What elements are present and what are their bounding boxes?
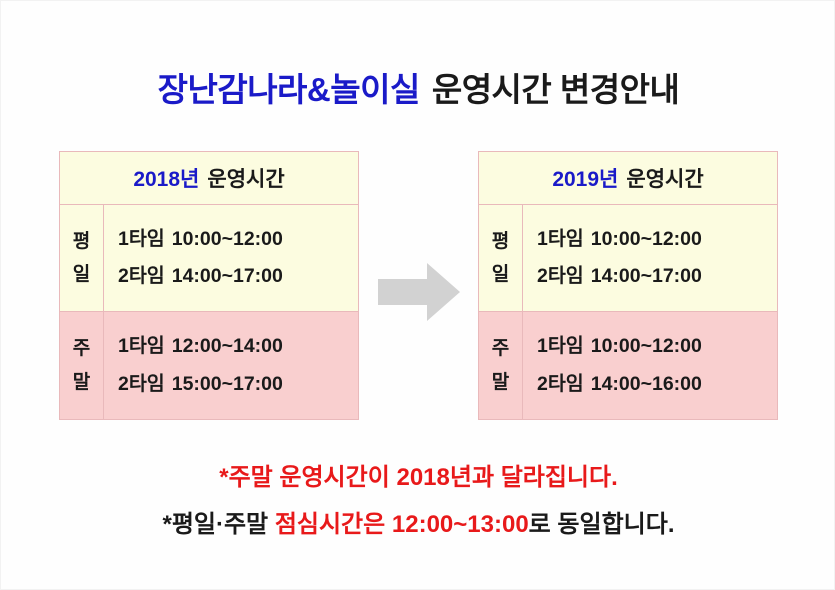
slot-time: 15:00~17:00 [172,373,283,395]
slot-label: 2타임 [118,373,165,395]
row-label-char: 평 [492,225,509,258]
notice-text-suffix: 로 동일합니다. [529,511,675,538]
slot-label: 1타임 [537,335,584,357]
row-label-weekday: 평 일 [479,205,523,311]
page-title-rest: 운영시간 변경안내 [432,71,680,108]
list-item: 1타임10:00~12:00 [537,221,777,259]
slot-time: 14:00~17:00 [172,265,283,287]
schedule-table-2019: 2019년운영시간 평 일 1타임10:00~12:00 2타임14:00~17… [478,151,778,420]
list-item: 2타임14:00~17:00 [118,258,358,296]
row-values-weekday: 1타임10:00~12:00 2타임14:00~17:00 [523,205,777,311]
table-header-year: 2019년 [552,163,618,193]
row-label-char: 말 [73,366,90,399]
row-label-char: 주 [73,332,90,365]
row-values-weekday: 1타임10:00~12:00 2타임14:00~17:00 [104,205,358,311]
row-label-char: 일 [492,258,509,291]
slot-label: 2타임 [537,373,584,395]
table-header-year: 2018년 [133,163,199,193]
slot-label: 2타임 [537,265,584,287]
list-item: 1타임10:00~12:00 [118,221,358,259]
slot-time: 10:00~12:00 [591,335,702,357]
list-item: 1타임12:00~14:00 [118,328,358,366]
table-header-2018: 2018년운영시간 [60,152,358,205]
notice-lunch-time: *평일·주말 점심시간은 12:00~13:00로 동일합니다. [1,504,835,539]
schedule-table-2018: 2018년운영시간 평 일 1타임10:00~12:00 2타임14:00~17… [59,151,359,420]
row-label-char: 평 [73,225,90,258]
arrow-right-icon [378,263,460,321]
row-label-char: 주 [492,332,509,365]
slot-time: 12:00~14:00 [172,335,283,357]
notice-page: 장난감나라&놀이실운영시간 변경안내 2018년운영시간 평 일 1타임10:0… [0,0,835,590]
row-label-weekend: 주 말 [60,312,104,419]
row-values-weekend: 1타임12:00~14:00 2타임15:00~17:00 [104,312,358,419]
list-item: 2타임14:00~17:00 [537,258,777,296]
notice-text-emphasis: 점심시간은 12:00~13:00 [275,511,529,538]
page-title: 장난감나라&놀이실운영시간 변경안내 [1,63,835,111]
table-header-label: 운영시간 [207,163,284,193]
row-label-weekday: 평 일 [60,205,104,311]
slot-label: 1타임 [118,228,165,250]
slot-time: 14:00~17:00 [591,265,702,287]
page-title-highlight: 장난감나라&놀이실 [158,71,420,108]
row-values-weekend: 1타임10:00~12:00 2타임14:00~16:00 [523,312,777,419]
row-label-weekend: 주 말 [479,312,523,419]
table-row: 주 말 1타임10:00~12:00 2타임14:00~16:00 [479,312,777,419]
slot-time: 14:00~16:00 [591,373,702,395]
table-row: 평 일 1타임10:00~12:00 2타임14:00~17:00 [60,205,358,312]
list-item: 1타임10:00~12:00 [537,328,777,366]
notice-text: *주말 운영시간이 2018년과 달라집니다. [219,464,618,491]
slot-label: 2타임 [118,265,165,287]
slot-label: 1타임 [537,228,584,250]
list-item: 2타임14:00~16:00 [537,366,777,404]
slot-label: 1타임 [118,335,165,357]
list-item: 2타임15:00~17:00 [118,366,358,404]
row-label-char: 일 [73,258,90,291]
notice-weekend-change: *주말 운영시간이 2018년과 달라집니다. [1,457,835,492]
table-row: 평 일 1타임10:00~12:00 2타임14:00~17:00 [479,205,777,312]
row-label-char: 말 [492,366,509,399]
notice-text-prefix: *평일·주말 [162,511,274,538]
table-row: 주 말 1타임12:00~14:00 2타임15:00~17:00 [60,312,358,419]
slot-time: 10:00~12:00 [591,228,702,250]
slot-time: 10:00~12:00 [172,228,283,250]
table-header-2019: 2019년운영시간 [479,152,777,205]
table-header-label: 운영시간 [626,163,703,193]
